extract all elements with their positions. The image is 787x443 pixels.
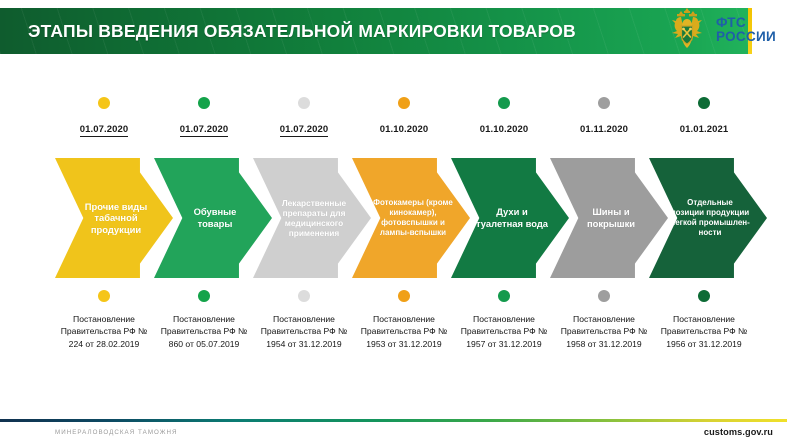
note-row: Постановление Правительства РФ № 224 от …	[0, 313, 787, 388]
double-headed-eagle-icon	[663, 6, 711, 54]
stage-date-label: 01.10.2020	[480, 124, 529, 135]
footer-office-name: МИНЕРАЛОВОДСКАЯ ТАМОЖНЯ	[55, 429, 178, 436]
page-title: ЭТАПЫ ВВЕДЕНИЯ ОБЯЗАТЕЛЬНОЙ МАРКИРОВКИ Т…	[28, 8, 576, 54]
stage-date-label: 01.10.2020	[380, 124, 429, 135]
status-dot-icon	[494, 95, 514, 111]
arrow-row: Прочие виды табачной продукцииОбувные то…	[55, 158, 755, 278]
stage-top-dot	[54, 95, 154, 111]
logo-line-1: ФТС	[716, 16, 776, 30]
status-dot-icon	[94, 95, 114, 111]
stage-regulation-note: Постановление Правительства РФ № 224 от …	[54, 313, 154, 350]
stage-date: 01.07.2020	[154, 119, 254, 137]
stage-date-label: 01.07.2020	[280, 124, 329, 137]
status-dot-icon	[594, 95, 614, 111]
stage-top-dot	[454, 95, 554, 111]
footer-website: customs.gov.ru	[704, 427, 773, 437]
stage-arrow-label: Духи и туалетная вода	[475, 206, 549, 229]
footer-gradient-divider	[0, 419, 787, 422]
stage-date-label: 01.07.2020	[180, 124, 229, 137]
stage-regulation-note: Постановление Правительства РФ № 1954 от…	[254, 313, 354, 350]
stage-date: 01.07.2020	[254, 119, 354, 137]
status-dot-icon	[694, 95, 714, 111]
header-band: ЭТАПЫ ВВЕДЕНИЯ ОБЯЗАТЕЛЬНОЙ МАРКИРОВКИ Т…	[0, 8, 750, 54]
stage-date-label: 01.01.2021	[680, 124, 729, 135]
stage-arrow-label: Отдельные позиции продукции легкой промы…	[670, 198, 750, 237]
stage-top-dot	[654, 95, 754, 111]
status-dot-icon	[194, 95, 214, 111]
stage-arrow[interactable]: Прочие виды табачной продукции	[55, 158, 173, 278]
status-dot-icon	[594, 288, 614, 304]
stage-regulation-note: Постановление Правительства РФ № 1958 от…	[554, 313, 654, 350]
stage-bottom-dot	[654, 288, 754, 304]
stage-bottom-dot	[454, 288, 554, 304]
stage-bottom-dot	[354, 288, 454, 304]
logo-line-2: РОССИИ	[716, 30, 776, 44]
fts-logo: ФТС РОССИИ	[663, 4, 783, 56]
top-dot-row	[0, 95, 787, 111]
stage-bottom-dot	[54, 288, 154, 304]
slide-root: ЭТАПЫ ВВЕДЕНИЯ ОБЯЗАТЕЛЬНОЙ МАРКИРОВКИ Т…	[0, 0, 787, 443]
stage-bottom-dot	[254, 288, 354, 304]
stage-regulation-note: Постановление Правительства РФ № 860 от …	[154, 313, 254, 350]
stage-top-dot	[254, 95, 354, 111]
logo-text: ФТС РОССИИ	[716, 16, 776, 44]
stage-date: 01.01.2021	[654, 119, 754, 137]
stage-date: 01.11.2020	[554, 119, 654, 137]
bottom-dot-row	[0, 288, 787, 304]
stage-top-dot	[354, 95, 454, 111]
status-dot-icon	[94, 288, 114, 304]
date-row: 01.07.202001.07.202001.07.202001.10.2020…	[0, 119, 787, 135]
stage-date: 01.07.2020	[54, 119, 154, 137]
stage-arrow-label: Шины и покрышки	[574, 206, 648, 229]
stage-regulation-note: Постановление Правительства РФ № 1953 от…	[354, 313, 454, 350]
stage-date: 01.10.2020	[454, 119, 554, 137]
status-dot-icon	[294, 288, 314, 304]
stage-arrow-label: Обувные товары	[178, 206, 252, 229]
stage-regulation-note: Постановление Правительства РФ № 1957 от…	[454, 313, 554, 350]
status-dot-icon	[394, 288, 414, 304]
stage-regulation-note: Постановление Правительства РФ № 1956 от…	[654, 313, 754, 350]
stage-top-dot	[554, 95, 654, 111]
status-dot-icon	[294, 95, 314, 111]
stage-arrow-label: Прочие виды табачной продукции	[79, 201, 153, 236]
stage-date-label: 01.11.2020	[580, 124, 628, 135]
status-dot-icon	[494, 288, 514, 304]
status-dot-icon	[194, 288, 214, 304]
stage-arrow-label: Фотокамеры (кроме кинокамер), фотовспышк…	[373, 198, 453, 237]
stage-arrow-label: Лекарственные препараты для медицинского…	[274, 198, 354, 239]
stage-date: 01.10.2020	[354, 119, 454, 137]
status-dot-icon	[694, 288, 714, 304]
stage-date-label: 01.07.2020	[80, 124, 129, 137]
status-dot-icon	[394, 95, 414, 111]
stage-bottom-dot	[154, 288, 254, 304]
stage-top-dot	[154, 95, 254, 111]
stage-bottom-dot	[554, 288, 654, 304]
